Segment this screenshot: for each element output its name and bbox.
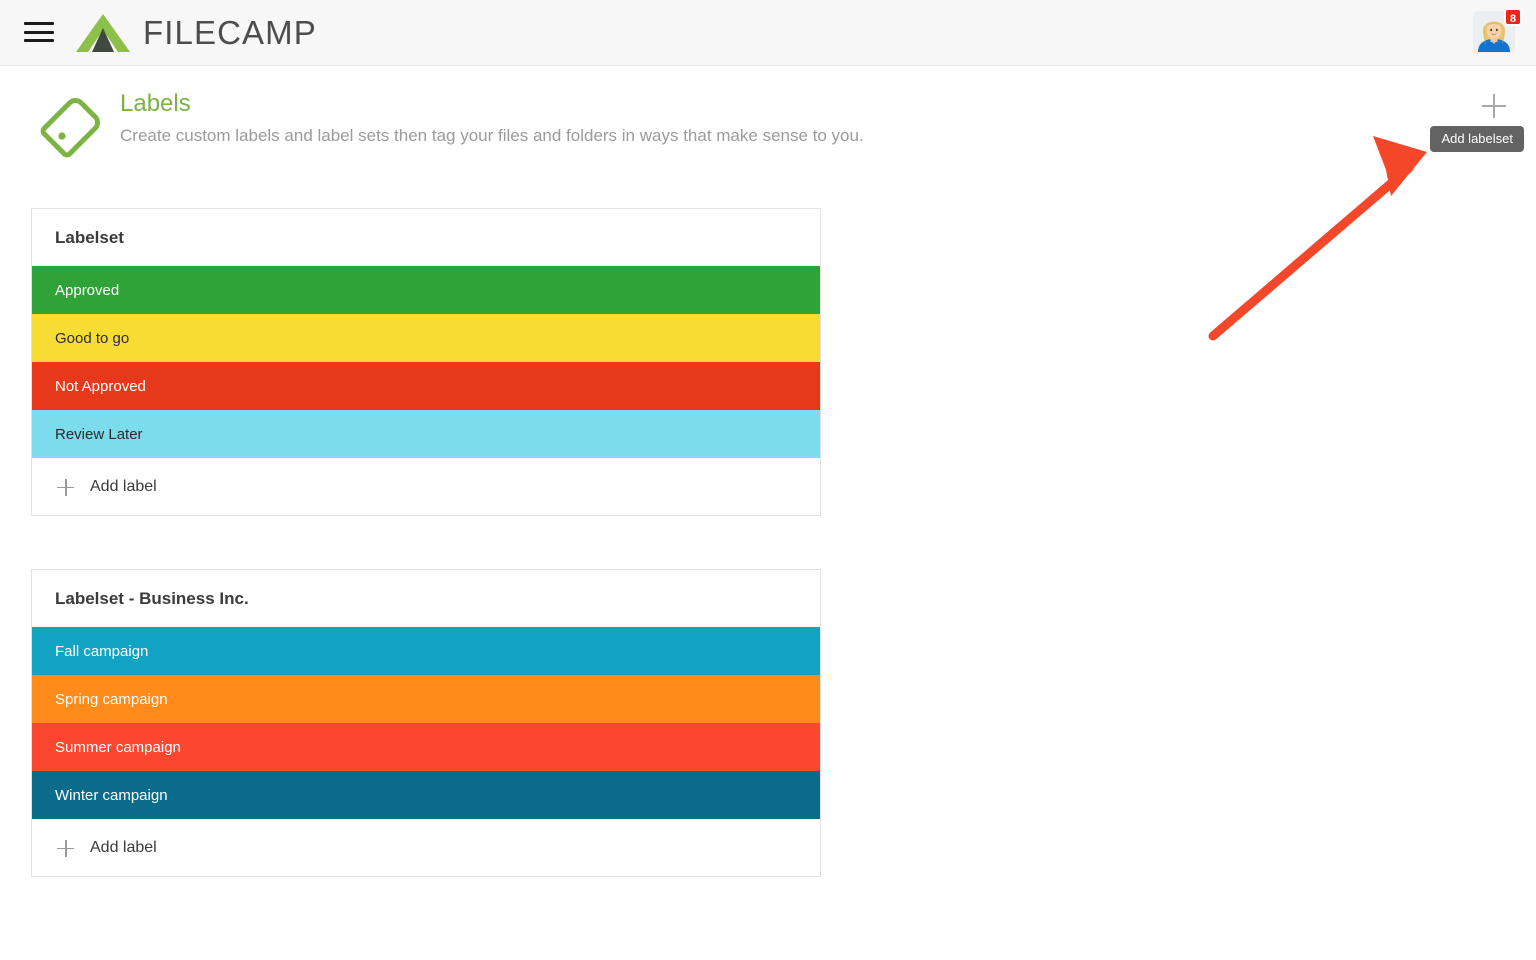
label-name: Not Approved: [55, 378, 146, 395]
label-row[interactable]: Approved: [32, 266, 820, 314]
label-name: Review Later: [55, 426, 143, 443]
filecamp-logo[interactable]: FILECAMP: [74, 8, 317, 58]
hamburger-bar: [24, 39, 54, 42]
labelset-card: LabelsetApprovedGood to goNot ApprovedRe…: [31, 208, 821, 516]
label-name: Winter campaign: [55, 787, 168, 804]
add-label-button[interactable]: Add label: [32, 819, 820, 876]
page-title: Labels: [120, 90, 191, 118]
plus-icon: [1474, 86, 1514, 126]
filecamp-logo-mark: [74, 12, 132, 54]
label-row[interactable]: Good to go: [32, 314, 820, 362]
filecamp-logo-text: FILECAMP: [143, 14, 317, 52]
label-name: Summer campaign: [55, 739, 181, 756]
labelset-title: Labelset: [32, 209, 820, 266]
labelset-title: Labelset - Business Inc.: [32, 570, 820, 627]
label-row[interactable]: Spring campaign: [32, 675, 820, 723]
add-label-button[interactable]: Add label: [32, 458, 820, 515]
hamburger-bar: [24, 22, 54, 25]
add-label-text: Add label: [90, 839, 157, 857]
page-header: Labels Create custom labels and label se…: [0, 66, 1536, 191]
top-navigation-bar: FILECAMP: [0, 0, 1536, 66]
notification-badge[interactable]: 8: [1504, 8, 1522, 26]
plus-icon: [57, 479, 74, 496]
label-name: Good to go: [55, 330, 129, 347]
label-row[interactable]: Not Approved: [32, 362, 820, 410]
labelset-card: Labelset - Business Inc.Fall campaignSpr…: [31, 569, 821, 877]
label-name: Spring campaign: [55, 691, 168, 708]
add-labelset-tooltip: Add labelset: [1430, 126, 1524, 152]
label-row[interactable]: Winter campaign: [32, 771, 820, 819]
label-row[interactable]: Fall campaign: [32, 627, 820, 675]
add-labelset-button[interactable]: [1474, 86, 1514, 126]
user-avatar-button[interactable]: 8: [1474, 8, 1522, 56]
label-row[interactable]: Summer campaign: [32, 723, 820, 771]
label-name: Fall campaign: [55, 643, 148, 660]
tag-icon: [36, 86, 112, 162]
label-name: Approved: [55, 282, 119, 299]
hamburger-bar: [24, 31, 54, 34]
add-label-text: Add label: [90, 478, 157, 496]
label-row[interactable]: Review Later: [32, 410, 820, 458]
plus-icon: [57, 840, 74, 857]
page-description: Create custom labels and label sets then…: [120, 126, 864, 146]
hamburger-menu-icon[interactable]: [24, 19, 54, 45]
